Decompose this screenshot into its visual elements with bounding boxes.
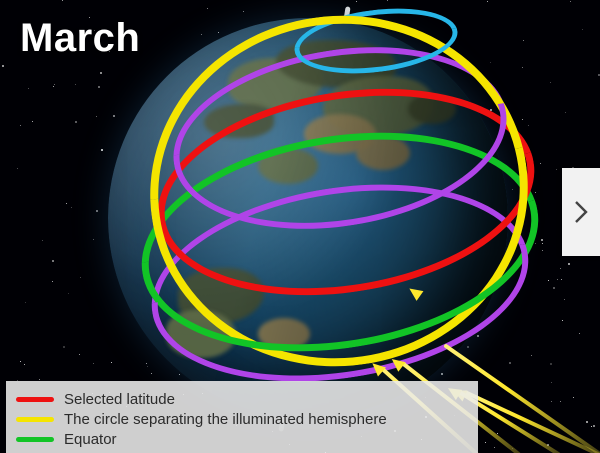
- star: [20, 361, 21, 362]
- legend-swatch-terminator: [16, 417, 54, 422]
- star: [531, 355, 532, 356]
- star: [561, 279, 562, 280]
- star: [535, 192, 536, 193]
- chevron-right-icon: [573, 199, 589, 225]
- star: [522, 119, 523, 120]
- star: [52, 281, 53, 282]
- star: [541, 239, 543, 241]
- globe-assembly: [98, 8, 518, 428]
- star: [522, 67, 523, 68]
- star: [32, 121, 33, 122]
- legend-label: Selected latitude: [64, 391, 175, 408]
- star: [551, 382, 552, 383]
- star: [548, 280, 549, 281]
- star: [582, 29, 583, 30]
- star: [562, 320, 563, 321]
- star: [20, 125, 21, 126]
- star: [96, 116, 97, 117]
- legend-label: The circle separating the illuminated he…: [64, 411, 387, 428]
- next-month-button[interactable]: [562, 168, 600, 256]
- star: [2, 65, 4, 67]
- legend-swatch-equator: [16, 437, 54, 442]
- star: [553, 287, 555, 289]
- star: [579, 333, 580, 334]
- star: [568, 263, 570, 265]
- list-item: Equator: [16, 429, 468, 449]
- star: [573, 397, 574, 398]
- month-label: March: [20, 16, 140, 61]
- star: [598, 74, 600, 76]
- star: [75, 121, 77, 123]
- star: [557, 279, 558, 280]
- star: [523, 40, 524, 41]
- star: [79, 354, 80, 355]
- star: [542, 250, 543, 251]
- star: [551, 401, 552, 402]
- star: [54, 84, 55, 85]
- legend-label: Equator: [64, 431, 117, 448]
- star: [52, 260, 54, 262]
- star: [71, 207, 72, 208]
- star: [560, 401, 561, 402]
- star: [66, 203, 67, 204]
- star: [593, 425, 595, 427]
- star: [24, 364, 25, 365]
- star: [535, 243, 536, 244]
- star: [494, 447, 495, 448]
- star: [542, 243, 543, 244]
- star: [25, 302, 26, 303]
- star: [53, 86, 54, 87]
- star: [93, 363, 94, 364]
- star: [560, 268, 561, 269]
- star: [564, 299, 565, 300]
- list-item: Selected latitude: [16, 389, 468, 409]
- star: [550, 363, 552, 365]
- star: [39, 379, 40, 380]
- star: [487, 1, 488, 2]
- star: [68, 293, 69, 294]
- star: [586, 421, 588, 423]
- star: [42, 240, 43, 241]
- star: [540, 163, 541, 164]
- legend: Selected latitude The circle separating …: [6, 381, 478, 453]
- star: [556, 169, 557, 170]
- star: [528, 125, 529, 126]
- star: [62, 0, 63, 1]
- star: [485, 442, 486, 443]
- star: [550, 82, 551, 83]
- star: [28, 88, 29, 89]
- list-item: The circle separating the illuminated he…: [16, 409, 468, 429]
- star: [80, 277, 81, 278]
- star: [356, 1, 357, 2]
- star: [570, 1, 571, 2]
- illumination-animation-frame: March Selected latitude The circle separ…: [0, 0, 600, 453]
- star: [565, 112, 566, 113]
- star: [75, 84, 76, 85]
- star: [93, 239, 94, 240]
- legend-swatch-selected-latitude: [16, 397, 54, 402]
- star: [17, 168, 18, 169]
- star: [387, 0, 388, 1]
- star: [63, 346, 65, 348]
